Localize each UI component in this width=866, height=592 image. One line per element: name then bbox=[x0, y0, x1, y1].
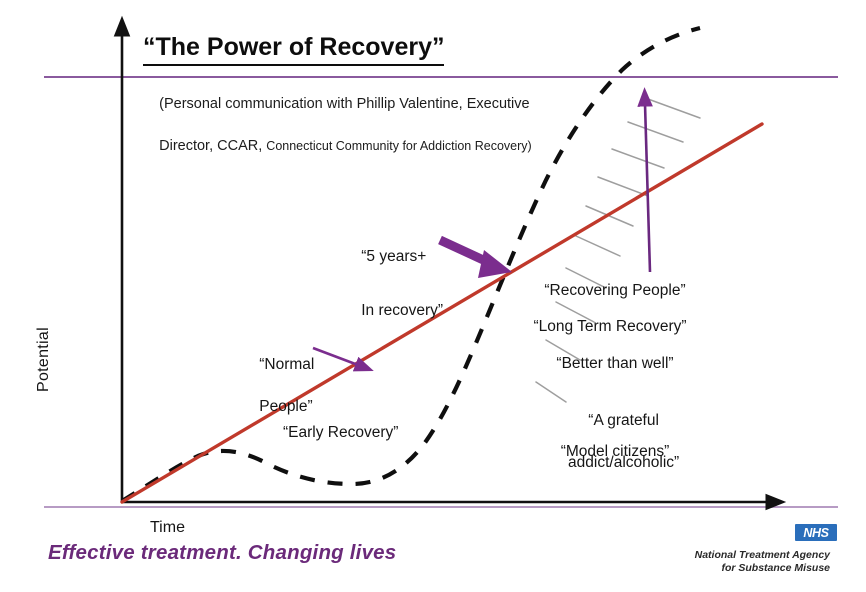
nhs-logo: NHS bbox=[795, 524, 837, 541]
nhs-logo-text: NHS bbox=[803, 526, 828, 540]
footer-tagline: Effective treatment. Changing lives bbox=[48, 540, 396, 565]
agency-name-line-1: National Treatment Agency bbox=[620, 549, 830, 562]
callout-normal-people: “Normal People” bbox=[242, 334, 314, 439]
callout-normal-people-line2: People” bbox=[259, 398, 312, 415]
subtitle-line-2-bold: Director, CCAR, bbox=[159, 138, 266, 154]
label-better-than-well: “Better than well” bbox=[505, 355, 725, 374]
x-axis-label: Time bbox=[150, 518, 185, 538]
subtitle-line-2-small: Connecticut Community for Addiction Reco… bbox=[266, 139, 531, 153]
subtitle-line-1: (Personal communication with Phillip Val… bbox=[159, 96, 529, 112]
callout-normal-people-line1: “Normal bbox=[259, 356, 314, 373]
label-model-citizens: “Model citizens” bbox=[505, 443, 725, 462]
label-recovering-people: “Recovering People” bbox=[505, 282, 725, 301]
callout-five-years-line2: In recovery” bbox=[361, 302, 443, 319]
callout-early-recovery: “Early Recovery” bbox=[283, 424, 398, 443]
page-title: “The Power of Recovery” bbox=[143, 32, 444, 66]
callout-five-years-line1: “5 years+ bbox=[361, 248, 426, 265]
label-long-term-recovery: “Long Term Recovery” bbox=[500, 318, 720, 337]
callout-five-years: “5 years+ In recovery” bbox=[344, 216, 443, 352]
label-grateful-addict-line1: “A grateful bbox=[588, 412, 659, 429]
five-years-arrow bbox=[440, 240, 512, 278]
slide-canvas: “The Power of Recovery” (Personal commun… bbox=[0, 0, 866, 592]
agency-name-line-2: for Substance Misuse bbox=[620, 562, 830, 575]
subtitle-block: (Personal communication with Phillip Val… bbox=[143, 73, 532, 178]
y-axis-label: Potential bbox=[34, 327, 54, 392]
